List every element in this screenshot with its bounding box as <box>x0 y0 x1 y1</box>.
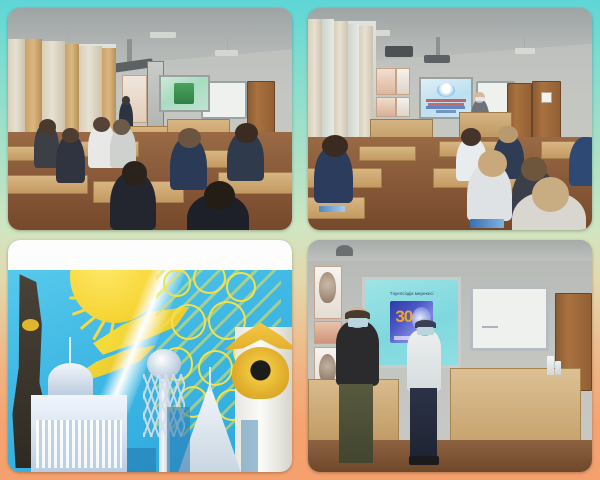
projector <box>424 55 450 64</box>
notebook <box>319 206 345 213</box>
slide-logo-30: 30 <box>395 308 412 325</box>
city-building-2 <box>241 420 258 472</box>
open-book <box>470 219 504 228</box>
presenter-face-mask <box>475 97 485 101</box>
photo-collage: Тәуелсіздік мерекесі 30 <box>0 0 600 480</box>
student-4-head <box>113 119 130 135</box>
curtain-1 <box>308 19 322 139</box>
student-5-head <box>122 161 148 185</box>
student-6-head <box>178 128 201 148</box>
classroom-scene-green <box>8 8 292 230</box>
classroom-scene-blue <box>308 8 592 230</box>
presenter-1-trousers <box>339 384 373 463</box>
presenter-2-body <box>407 330 441 390</box>
palace-dome <box>48 363 93 397</box>
poster-top-band <box>8 240 292 270</box>
city-building-1 <box>167 407 190 472</box>
whiteboard <box>470 286 550 351</box>
palace-spire <box>69 337 71 367</box>
classroom-scene-presenters: Тәуелсіздік мерекесі 30 <box>308 240 592 472</box>
student-7 <box>569 137 592 186</box>
student-1-head <box>322 135 348 157</box>
slide-title: Тәуелсіздік мерекесі <box>390 291 434 297</box>
desk-row-1-left <box>359 146 416 162</box>
sanitizer-bottle-1 <box>547 356 554 375</box>
collage-photo-bottom-left[interactable] <box>8 240 292 472</box>
collage-photo-bottom-right[interactable]: Тәуелсіздік мерекесі 30 <box>308 240 592 472</box>
wall-poster-1 <box>376 68 396 95</box>
poster-body <box>8 270 292 472</box>
slide-text-line-4 <box>436 110 456 113</box>
projection-screen-green <box>159 75 210 113</box>
two-presenters-independence-photo: Тәуелсіздік мерекесі 30 <box>308 240 592 472</box>
teacher-desk-right <box>450 368 581 442</box>
lamp-3 <box>215 50 238 56</box>
wall-poster-2 <box>396 68 410 95</box>
classroom-presentation-blue-slide-photo <box>308 8 592 230</box>
slide-globe-graphic <box>437 83 455 98</box>
wall-poster-3 <box>376 97 396 117</box>
collage-photo-top-right[interactable] <box>308 8 592 230</box>
lamp-2 <box>515 48 535 54</box>
sanitizer-bottle-2 <box>555 361 561 375</box>
presenter-head <box>122 96 131 105</box>
lamp-2 <box>150 32 176 38</box>
khan-shatyr-spire <box>209 367 211 391</box>
city-building-3 <box>127 448 155 472</box>
presenter-1-body <box>336 321 379 386</box>
curtain-4 <box>348 24 359 137</box>
door-right <box>532 81 560 141</box>
presenter-2-mask <box>417 327 433 335</box>
portrait-sketch-1 <box>319 272 336 302</box>
curtain-3 <box>334 21 348 136</box>
palace-colonnade <box>36 420 121 468</box>
kazakhstan-poster <box>8 240 292 472</box>
wall-lamp <box>336 245 353 257</box>
projector-mount <box>436 37 440 57</box>
curtain-2 <box>322 19 333 139</box>
golden-shield <box>232 347 289 399</box>
presenter-1-mask <box>348 318 368 327</box>
presenter-2-shoes <box>409 456 439 465</box>
collage-photo-top-left[interactable] <box>8 8 292 230</box>
student-8-head <box>204 181 235 210</box>
presenter-2-trousers <box>410 388 437 458</box>
slide-graphic <box>174 83 194 103</box>
student-4-head <box>478 150 506 177</box>
slide-text-line-3 <box>426 106 465 109</box>
monument-emblem <box>22 319 39 331</box>
wall-poster-4 <box>396 97 410 117</box>
student-1-head <box>39 119 56 135</box>
student-2-head <box>461 128 481 146</box>
curtain-4 <box>65 44 79 139</box>
speaker-box <box>385 46 413 57</box>
curtain-1 <box>8 39 25 139</box>
classroom-presentation-green-slide-photo <box>8 8 292 230</box>
kazakhstan-flag-landmarks-photo <box>8 240 292 472</box>
door-sign <box>541 92 552 103</box>
